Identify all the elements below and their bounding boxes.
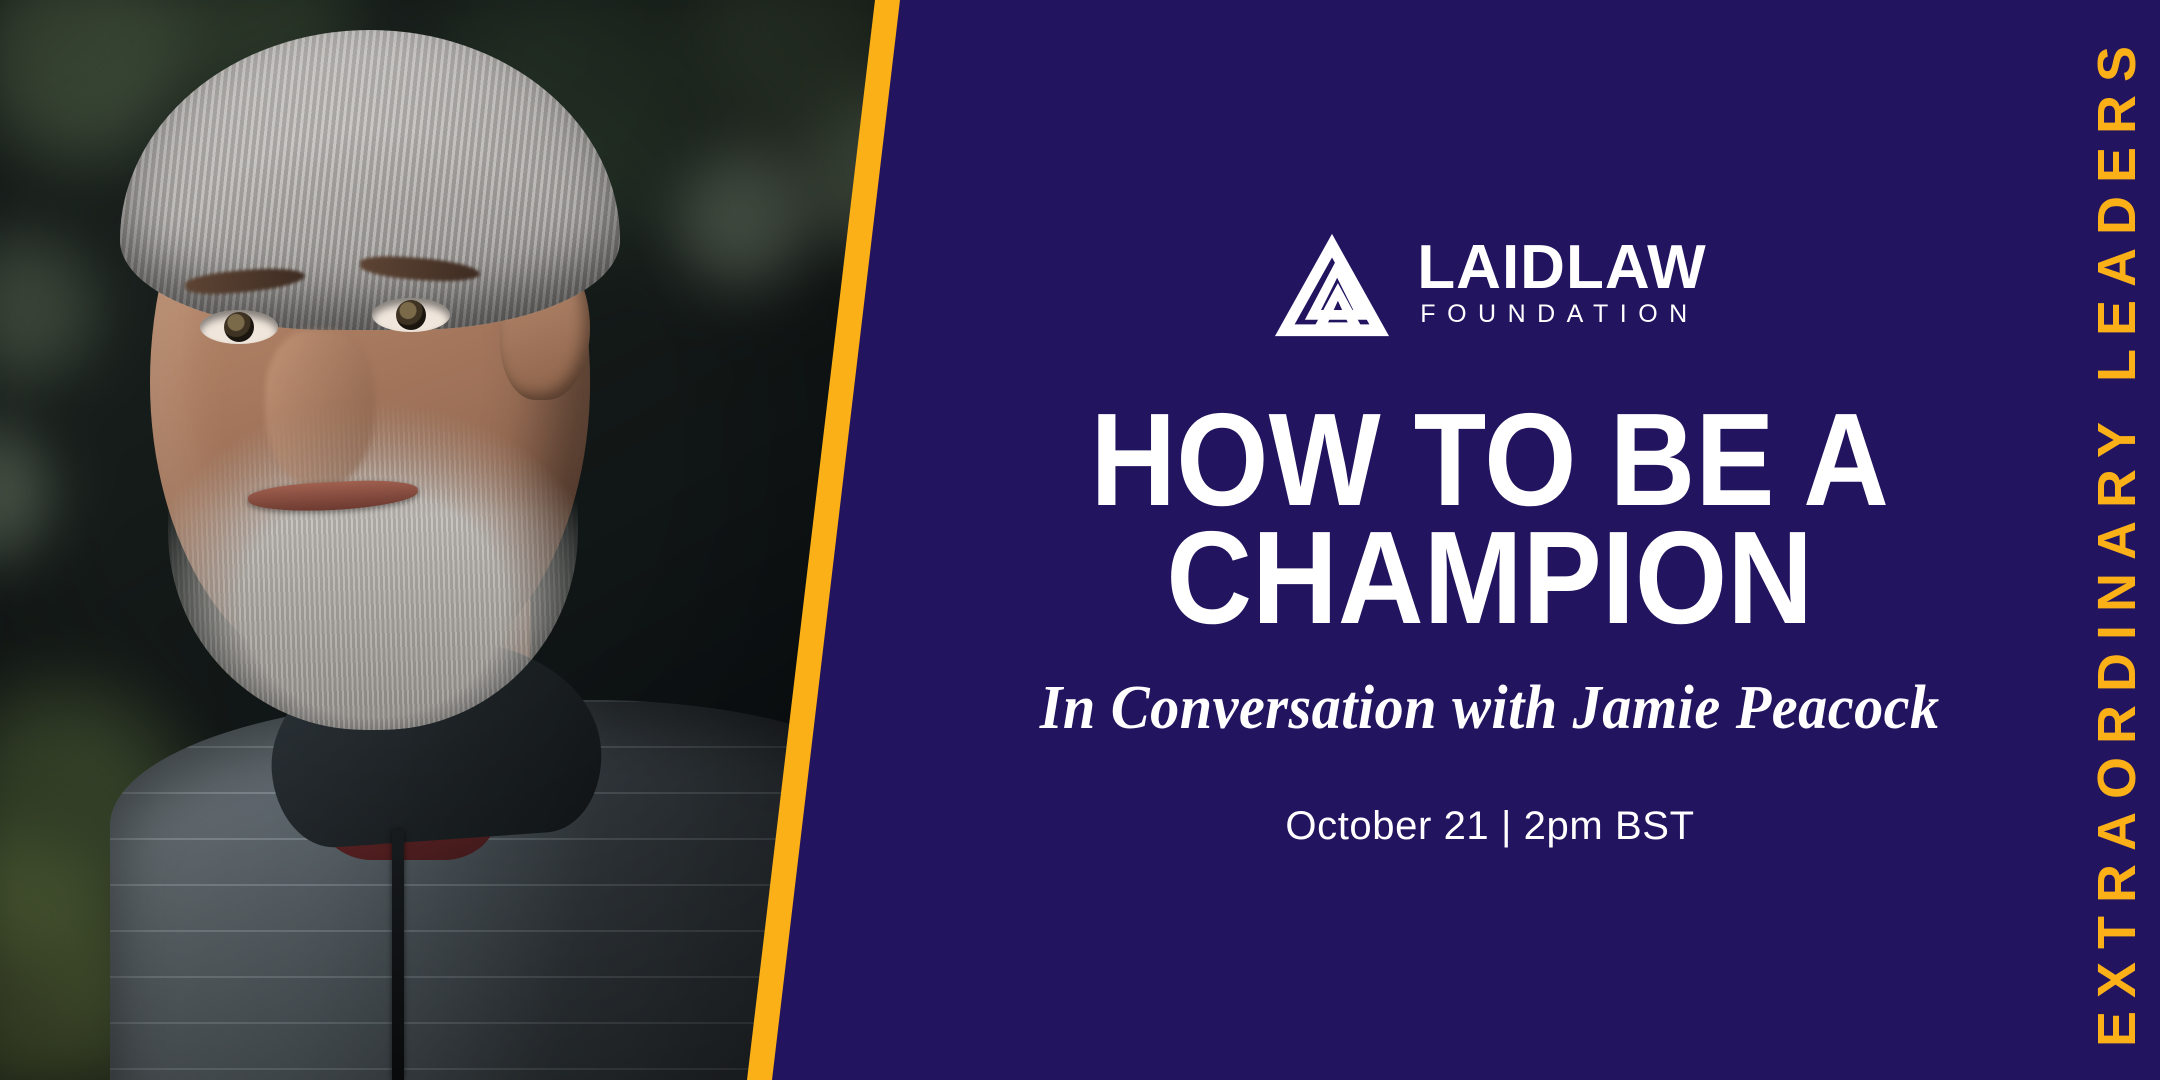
headline-line-1: HOW TO BE A <box>1091 401 1890 520</box>
content-stack: LAIDLAW FOUNDATION HOW TO BE A CHAMPION … <box>900 0 2080 1080</box>
page-title: HOW TO BE A CHAMPION <box>1091 401 1890 639</box>
logo-wordmark-group: LAIDLAW FOUNDATION <box>1417 239 1706 334</box>
laidlaw-triangle-mark-icon <box>1273 231 1391 343</box>
vertical-tagline-text: EXTRAORDINARY LEADERS <box>2086 33 2148 1047</box>
photo-vignette <box>0 0 900 1080</box>
event-datetime: October 21 | 2pm BST <box>1285 804 1694 849</box>
event-promo-banner: LAIDLAW FOUNDATION HOW TO BE A CHAMPION … <box>0 0 2160 1080</box>
event-subtitle: In Conversation with Jamie Peacock <box>1040 674 1940 742</box>
laidlaw-foundation-logo: LAIDLAW FOUNDATION <box>1273 231 1706 343</box>
speaker-portrait-photo <box>0 0 900 1080</box>
logo-subtext: FOUNDATION <box>1420 296 1698 334</box>
vertical-tagline: EXTRAORDINARY LEADERS <box>2074 0 2160 1080</box>
headline-line-2: CHAMPION <box>1091 519 1890 638</box>
logo-wordmark-text: LAIDLAW <box>1417 239 1706 296</box>
